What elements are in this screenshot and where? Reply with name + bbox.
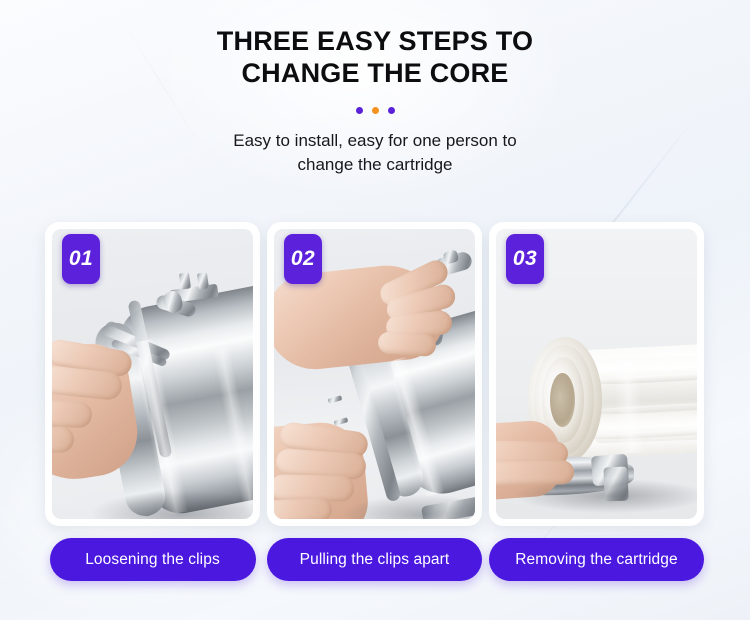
step-card-02: 02 xyxy=(267,222,482,581)
step-01-photo-card: 01 xyxy=(45,222,260,526)
header: THREE EASY STEPS TO CHANGE THE CORE Easy… xyxy=(0,26,750,178)
step-02-photo-card: 02 xyxy=(267,222,482,526)
dot-left-icon xyxy=(356,107,363,114)
step-03-number-label: 03 xyxy=(513,247,537,271)
step-01-number-label: 01 xyxy=(69,247,93,271)
page-subtitle-line-1: Easy to install, easy for one person to xyxy=(233,131,517,150)
step-01-button[interactable]: Loosening the clips xyxy=(50,538,256,581)
step-01-button-label: Loosening the clips xyxy=(85,551,220,569)
step-02-button[interactable]: Pulling the clips apart xyxy=(267,538,482,581)
steps-row: 01 xyxy=(45,222,705,581)
page-subtitle-line-2: change the cartridge xyxy=(0,153,750,178)
step-02-number-label: 02 xyxy=(291,247,315,271)
step-card-03: 03 xyxy=(489,222,704,581)
page-title-line-1: THREE EASY STEPS TO xyxy=(217,26,533,56)
decorative-dots xyxy=(0,107,750,114)
infographic-page: THREE EASY STEPS TO CHANGE THE CORE Easy… xyxy=(0,0,750,620)
step-03-button-label: Removing the cartridge xyxy=(515,551,677,569)
dot-right-icon xyxy=(388,107,395,114)
page-title: THREE EASY STEPS TO CHANGE THE CORE xyxy=(0,26,750,90)
step-02-number-badge: 02 xyxy=(284,234,322,284)
step-card-01: 01 xyxy=(45,222,260,581)
dot-middle-icon xyxy=(372,107,379,114)
page-title-line-2: CHANGE THE CORE xyxy=(0,58,750,90)
step-03-photo-card: 03 xyxy=(489,222,704,526)
page-subtitle: Easy to install, easy for one person to … xyxy=(0,129,750,178)
step-02-button-label: Pulling the clips apart xyxy=(300,551,450,569)
step-03-number-badge: 03 xyxy=(506,234,544,284)
step-03-button[interactable]: Removing the cartridge xyxy=(489,538,704,581)
step-01-number-badge: 01 xyxy=(62,234,100,284)
